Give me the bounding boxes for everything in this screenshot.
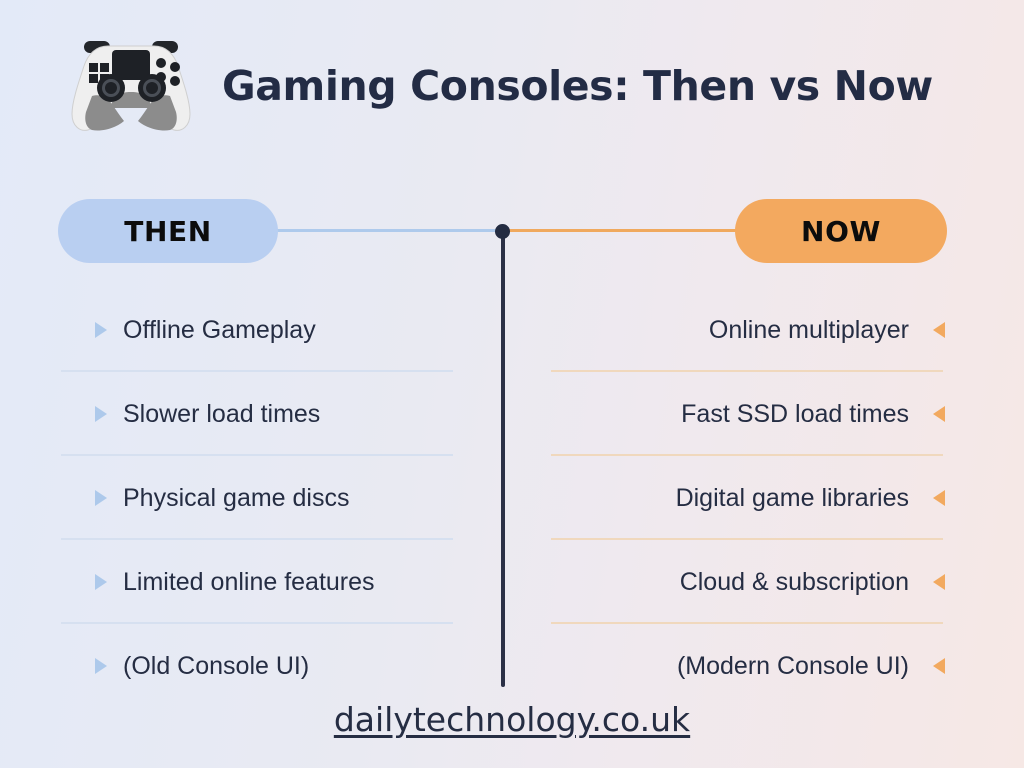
triangle-left-icon (933, 658, 945, 674)
page-title: Gaming Consoles: Then vs Now (222, 62, 933, 110)
list-item-label: Limited online features (123, 568, 375, 597)
list-item[interactable]: Digital game libraries (549, 456, 945, 540)
connector-line-now (503, 229, 738, 232)
triangle-left-icon (933, 574, 945, 590)
list-item[interactable]: Physical game discs (59, 456, 455, 540)
list-item[interactable]: Slower load times (59, 372, 455, 456)
then-column: Offline Gameplay Slower load times Physi… (59, 288, 455, 708)
triangle-right-icon (95, 322, 107, 338)
triangle-left-icon (933, 490, 945, 506)
list-item[interactable]: Cloud & subscription (549, 540, 945, 624)
list-item-label: Online multiplayer (709, 316, 909, 345)
center-junction-dot (495, 224, 510, 239)
game-controller-icon (62, 36, 200, 136)
triangle-left-icon (933, 322, 945, 338)
list-item-label: Physical game discs (123, 484, 349, 513)
list-item-label: Fast SSD load times (681, 400, 909, 429)
triangle-right-icon (95, 490, 107, 506)
triangle-right-icon (95, 658, 107, 674)
list-item-label: (Modern Console UI) (677, 652, 909, 681)
header: Gaming Consoles: Then vs Now (62, 36, 933, 136)
then-badge[interactable]: THEN (58, 199, 278, 263)
list-item[interactable]: Offline Gameplay (59, 288, 455, 372)
list-item[interactable]: (Old Console UI) (59, 624, 455, 708)
now-badge[interactable]: NOW (735, 199, 947, 263)
list-item[interactable]: Fast SSD load times (549, 372, 945, 456)
list-item[interactable]: Limited online features (59, 540, 455, 624)
triangle-right-icon (95, 406, 107, 422)
list-item-label: Cloud & subscription (680, 568, 909, 597)
infographic-canvas: Gaming Consoles: Then vs Now THEN NOW Of… (0, 0, 1024, 768)
list-item-label: Digital game libraries (676, 484, 909, 513)
website-link[interactable]: dailytechnology.co.uk (334, 700, 690, 739)
triangle-left-icon (933, 406, 945, 422)
list-item[interactable]: (Modern Console UI) (549, 624, 945, 708)
list-item-label: Slower load times (123, 400, 320, 429)
now-column: Online multiplayer Fast SSD load times D… (549, 288, 945, 708)
connector-line-then (272, 229, 504, 232)
footer: dailytechnology.co.uk (0, 700, 1024, 739)
list-item[interactable]: Online multiplayer (549, 288, 945, 372)
center-divider-line (501, 231, 505, 687)
list-item-label: (Old Console UI) (123, 652, 309, 681)
list-item-label: Offline Gameplay (123, 316, 316, 345)
triangle-right-icon (95, 574, 107, 590)
